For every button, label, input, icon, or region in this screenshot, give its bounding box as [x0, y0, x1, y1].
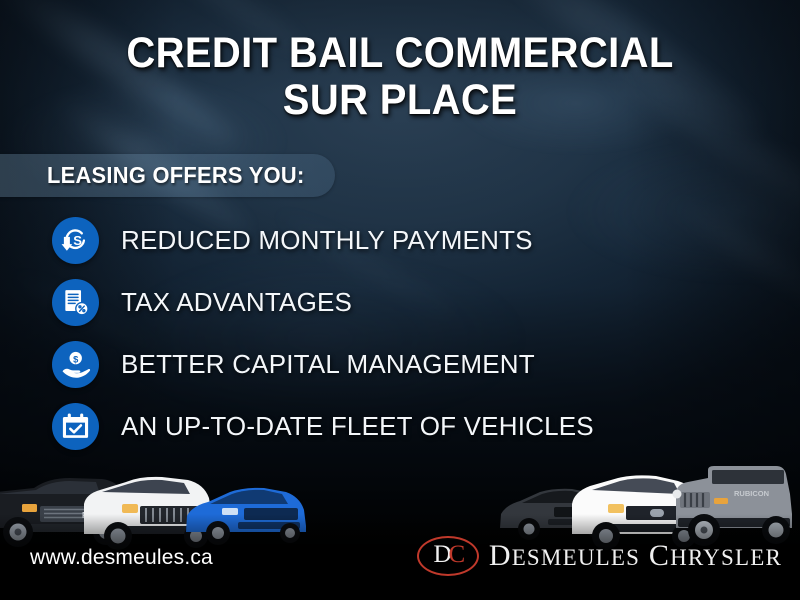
hand-holding-coin-icon: $ — [52, 341, 99, 388]
logo-letter-c: C — [449, 541, 463, 569]
svg-text:RUBICON: RUBICON — [734, 489, 769, 498]
benefit-label: BETTER CAPITAL MANAGEMENT — [121, 349, 535, 380]
document-percent-icon — [52, 279, 99, 326]
headline-line-1: CREDIT BAIL COMMERCIAL — [28, 30, 772, 77]
benefits-list: S REDUCED MONTHLY PAYMENTS — [52, 209, 752, 457]
logo-wordmark: DESMEULES CHRYSLER — [489, 539, 782, 573]
benefit-label: TAX ADVANTAGES — [121, 287, 352, 318]
svg-text:$: $ — [73, 354, 79, 364]
list-item: S REDUCED MONTHLY PAYMENTS — [52, 209, 752, 271]
logo-desmeules-rest: ESMEULES — [512, 545, 640, 570]
leasing-offers-label: LEASING OFFERS YOU: — [47, 162, 305, 189]
logo-letter-d: D — [433, 541, 448, 569]
benefit-label: REDUCED MONTHLY PAYMENTS — [121, 225, 533, 256]
vehicle-lineup: RAM — [0, 440, 800, 600]
dc-monogram-icon: DC — [417, 536, 479, 576]
promo-banner: CREDIT BAIL COMMERCIAL SUR PLACE LEASING… — [0, 0, 800, 600]
leasing-offers-banner: LEASING OFFERS YOU: — [0, 154, 335, 197]
benefit-label: AN UP-TO-DATE FLEET OF VEHICLES — [121, 411, 594, 442]
page-title: CREDIT BAIL COMMERCIAL SUR PLACE — [28, 30, 772, 124]
list-item: $ BETTER CAPITAL MANAGEMENT — [52, 333, 752, 395]
svg-text:S: S — [73, 232, 82, 247]
money-down-arrow-icon: S — [52, 217, 99, 264]
website-url[interactable]: www.desmeules.ca — [30, 546, 213, 570]
logo-desmeules-cap: D — [489, 539, 512, 572]
dealer-logo[interactable]: DC DESMEULES CHRYSLER — [417, 536, 782, 576]
headline-line-2: SUR PLACE — [28, 77, 772, 124]
logo-monogram-letters: DC — [417, 536, 479, 576]
logo-chrysler-cap: C — [649, 539, 670, 572]
logo-chrysler-rest: HRYSLER — [670, 545, 782, 570]
list-item: TAX ADVANTAGES — [52, 271, 752, 333]
blue-dodge-challenger — [182, 476, 312, 550]
